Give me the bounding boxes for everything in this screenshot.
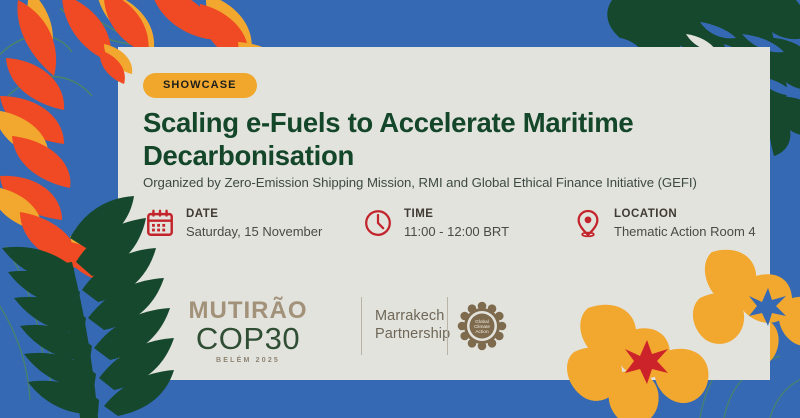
meta-value-date: Saturday, 15 November (186, 223, 322, 240)
meta-item-time: TIME 11:00 - 12:00 BRT (363, 207, 509, 240)
meta-value-location: Thematic Action Room 4 (614, 223, 756, 240)
logo-belem-text: BELÉM 2025 (153, 357, 343, 364)
location-pin-icon (573, 208, 603, 238)
meta-label-time: TIME (404, 208, 509, 221)
meta-label-date: DATE (186, 208, 322, 221)
event-subtitle: Organized by Zero-Emission Shipping Miss… (143, 175, 697, 190)
meta-text-time: TIME 11:00 - 12:00 BRT (404, 207, 509, 240)
event-title: Scaling e-Fuels to Accelerate Maritime D… (143, 106, 743, 172)
logo-mutirao-text: MUTIRÃO (153, 299, 343, 323)
meta-label-location: LOCATION (614, 208, 756, 221)
event-banner: SHOWCASE Scaling e-Fuels to Accelerate M… (0, 0, 800, 418)
calendar-icon (145, 208, 175, 238)
meta-item-location: LOCATION Thematic Action Room 4 (573, 207, 756, 240)
marrakech-partnership-logo: Marrakech Partnership (375, 307, 450, 343)
logo-divider-2 (447, 297, 448, 355)
logo-divider-1 (361, 297, 362, 355)
marrakech-line-2: Partnership (375, 325, 450, 343)
seal-line-2: Climate (474, 324, 490, 330)
seal-line-3: Action (475, 329, 489, 335)
logo-row: MUTIRÃO COP30 BELÉM 2025 Marrakech Partn… (143, 295, 783, 367)
event-meta-row: DATE Saturday, 15 November TIME 11:00 - … (145, 207, 765, 257)
showcase-badge: SHOWCASE (143, 73, 257, 98)
cop30-logo: MUTIRÃO COP30 BELÉM 2025 (153, 299, 343, 364)
logo-cop30-text: COP30 (153, 322, 343, 355)
clock-icon (363, 208, 393, 238)
meta-text-date: DATE Saturday, 15 November (186, 207, 322, 240)
marrakech-line-1: Marrakech (375, 307, 450, 325)
meta-value-time: 11:00 - 12:00 BRT (404, 223, 509, 240)
seal-line-1: Global (475, 319, 489, 325)
event-card: SHOWCASE Scaling e-Fuels to Accelerate M… (118, 47, 770, 380)
meta-item-date: DATE Saturday, 15 November (145, 207, 322, 240)
meta-text-location: LOCATION Thematic Action Room 4 (614, 207, 756, 240)
vine-lines-bottom-left (0, 246, 50, 400)
global-climate-action-seal: Global Climate Action (457, 301, 507, 351)
